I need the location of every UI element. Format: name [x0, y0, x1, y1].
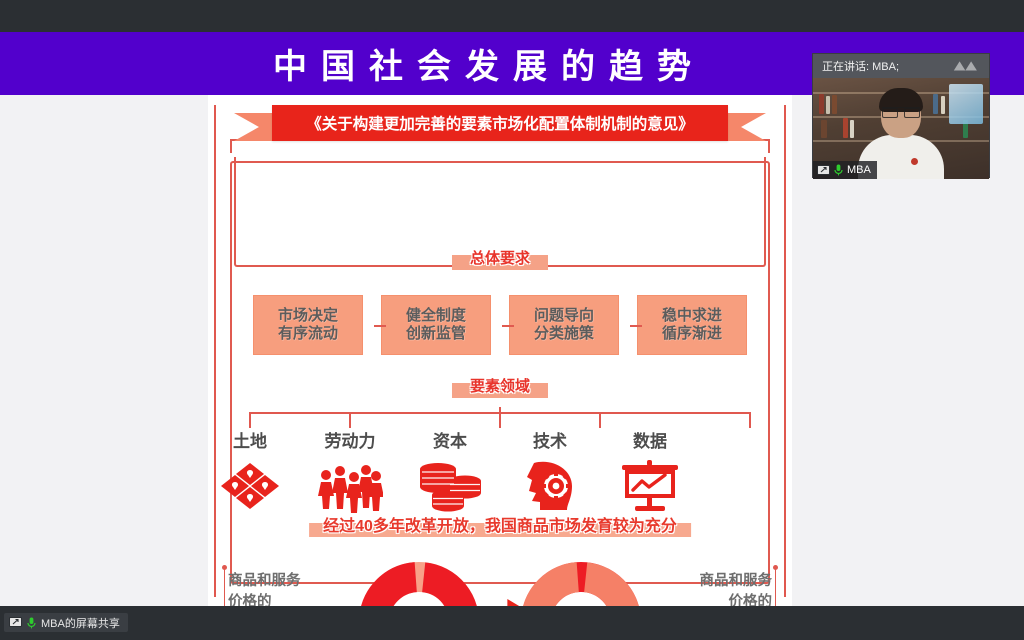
comparison-dot-left — [222, 565, 227, 570]
screen-share-icon — [817, 165, 830, 176]
speaker-badge — [911, 158, 918, 165]
presentation-title: 中国社会发展的趋势 — [259, 39, 705, 88]
requirement-box-row: 市场决定 有序流动 健全制度 创新监管 问题导向 分类施策 稳中求进 循序渐进 — [208, 295, 792, 355]
factor-label: 资本 — [400, 427, 500, 452]
comparison-left-line-1: 商品和服务 — [228, 571, 336, 592]
slide-canvas: 《关于构建更加完善的要素市场化配置体制机制的意见》 总体要求 市场决定 有序流动… — [208, 95, 792, 606]
comparison-right-line-1: 商品和服务 — [664, 571, 772, 592]
requirement-box: 问题导向 分类施策 — [509, 295, 619, 355]
active-speaker-label: 正在讲话: MBA; — [822, 58, 899, 74]
slide-statement-label: 经过40多年改革开放，我国商品市场发育较为充分 — [323, 512, 677, 536]
box-connector-dash — [374, 325, 386, 327]
box-connector-dash — [630, 325, 642, 327]
head-gear-icon — [500, 458, 600, 516]
glasses-icon — [882, 107, 920, 115]
requirement-line-2: 创新监管 — [406, 325, 466, 343]
requirement-line-1: 健全制度 — [406, 307, 466, 325]
video-panel-header: 正在讲话: MBA; — [813, 54, 989, 78]
slide-ribbon: 《关于构建更加完善的要素市场化配置体制机制的意见》 — [208, 103, 792, 151]
factor-item-capital: 资本 — [400, 427, 500, 516]
requirement-line-1: 问题导向 — [534, 307, 594, 325]
factor-label: 劳动力 — [300, 427, 400, 452]
bottom-taskbar: MBA的屏幕共享 — [0, 606, 1024, 640]
chart-board-icon — [600, 458, 700, 516]
factor-label: 技术 — [500, 427, 600, 452]
ribbon-plate: 《关于构建更加完善的要素市场化配置体制机制的意见》 — [272, 105, 728, 141]
requirement-box: 健全制度 创新监管 — [381, 295, 491, 355]
people-group-icon — [300, 458, 400, 516]
requirement-box: 市场决定 有序流动 — [253, 295, 363, 355]
microphone-icon — [27, 617, 36, 629]
factor-item-labor: 劳动力 — [300, 427, 400, 516]
screen-share-status-label: MBA的屏幕共享 — [41, 615, 120, 631]
section-tag-overall: 总体要求 — [452, 255, 548, 270]
microphone-icon — [834, 164, 843, 176]
factor-label: 土地 — [200, 427, 300, 452]
box-connector-dash — [502, 325, 514, 327]
factor-label: 数据 — [600, 427, 700, 452]
factor-item-technology: 技术 — [500, 427, 600, 516]
video-participant-name: MBA — [847, 164, 871, 176]
factor-item-land: 土地 — [200, 427, 300, 516]
land-diamond-icon — [200, 458, 300, 516]
requirement-box: 稳中求进 循序渐进 — [637, 295, 747, 355]
requirement-line-2: 循序渐进 — [662, 325, 722, 343]
ribbon-title: 《关于构建更加完善的要素市场化配置体制机制的意见》 — [306, 112, 694, 134]
video-feed: MBA — [813, 78, 989, 179]
active-speaker-video-panel[interactable]: 正在讲话: MBA; — [812, 53, 990, 178]
slide-statement: 经过40多年改革开放，我国商品市场发育较为充分 — [309, 523, 691, 537]
zoom-logo-icon — [953, 59, 981, 72]
comparison-dot-right — [773, 565, 778, 570]
zoom-meeting-window: 中国社会发展的趋势 《关于构建更加完善的要素市场化配置体制机制的意见》 总体要求 — [0, 0, 1024, 640]
window-light — [949, 84, 983, 124]
factor-item-data: 数据 — [600, 427, 700, 516]
section-tag-domain-label: 要素领域 — [470, 375, 530, 396]
section-tag-domain: 要素领域 — [452, 383, 548, 398]
window-top-strip — [0, 0, 1024, 32]
factor-connector-lines — [242, 407, 758, 429]
requirement-line-1: 市场决定 — [278, 307, 338, 325]
video-panel-footer: MBA — [813, 161, 877, 179]
requirement-line-2: 有序流动 — [278, 325, 338, 343]
factor-row: 土地 — [242, 407, 758, 507]
section-tag-overall-label: 总体要求 — [470, 247, 530, 268]
requirement-line-1: 稳中求进 — [662, 307, 722, 325]
screen-share-status-chip[interactable]: MBA的屏幕共享 — [4, 613, 128, 632]
requirement-line-2: 分类施策 — [534, 325, 594, 343]
screen-share-icon — [9, 617, 22, 628]
coin-stacks-icon — [400, 458, 500, 516]
